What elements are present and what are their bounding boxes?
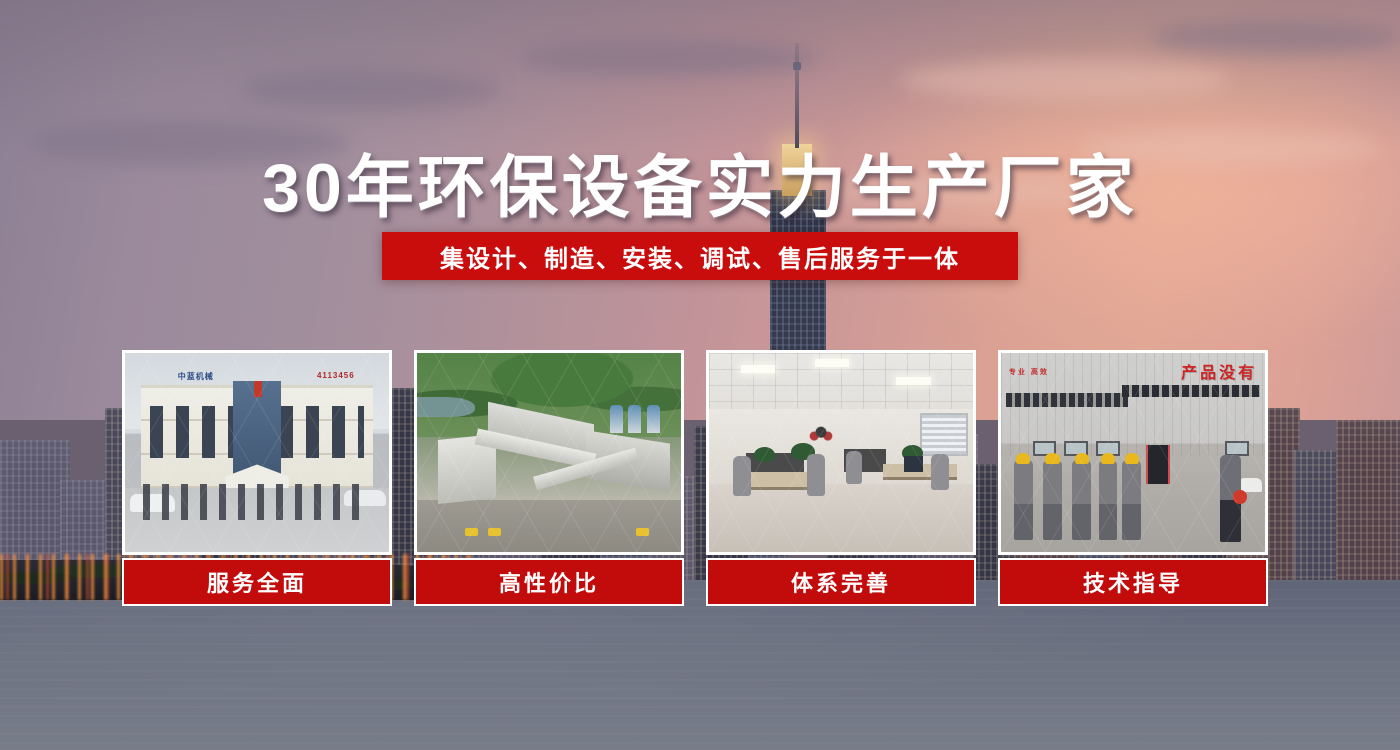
subtitle-banner: 集设计、制造、安装、调试、售后服务于一体 — [382, 232, 1018, 280]
tower-antenna-tip — [793, 62, 801, 70]
card-label-text: 服务全面 — [207, 566, 307, 598]
card-label-text: 高性价比 — [499, 566, 599, 598]
card-label-text: 体系完善 — [791, 566, 891, 598]
page-title: 30年环保设备实力生产厂家 — [0, 132, 1400, 231]
office-interior-staff-photo — [706, 350, 976, 555]
hero-banner: 30年环保设备实力生产厂家 集设计、制造、安装、调试、售后服务于一体 中蓝机械 … — [0, 0, 1400, 750]
factory-workers-training-photo: 产品没有 专业 高效 — [998, 350, 1268, 555]
feature-card-list: 中蓝机械 4113456 服务全面 — [122, 350, 1280, 606]
card-label-text: 技术指导 — [1083, 566, 1183, 598]
aerial-industrial-plant-photo — [414, 350, 684, 555]
factory-slogan-text: 专业 高效 — [1009, 367, 1049, 377]
feature-card[interactable]: 中蓝机械 4113456 服务全面 — [122, 350, 392, 606]
feature-card[interactable]: 高性价比 — [414, 350, 684, 606]
subtitle-text: 集设计、制造、安装、调试、售后服务于一体 — [440, 239, 960, 274]
card-label-bar: 高性价比 — [414, 558, 684, 606]
building-phone-text: 4113456 — [317, 371, 355, 380]
card-label-bar: 体系完善 — [706, 558, 976, 606]
company-building-staff-photo: 中蓝机械 4113456 — [122, 350, 392, 555]
feature-card[interactable]: 产品没有 专业 高效 技术指导 — [998, 350, 1268, 606]
card-label-bar: 技术指导 — [998, 558, 1268, 606]
feature-card[interactable]: 体系完善 — [706, 350, 976, 606]
factory-banner-text: 产品没有 — [1181, 359, 1257, 383]
card-label-bar: 服务全面 — [122, 558, 392, 606]
building-sign-text: 中蓝机械 — [178, 371, 214, 382]
